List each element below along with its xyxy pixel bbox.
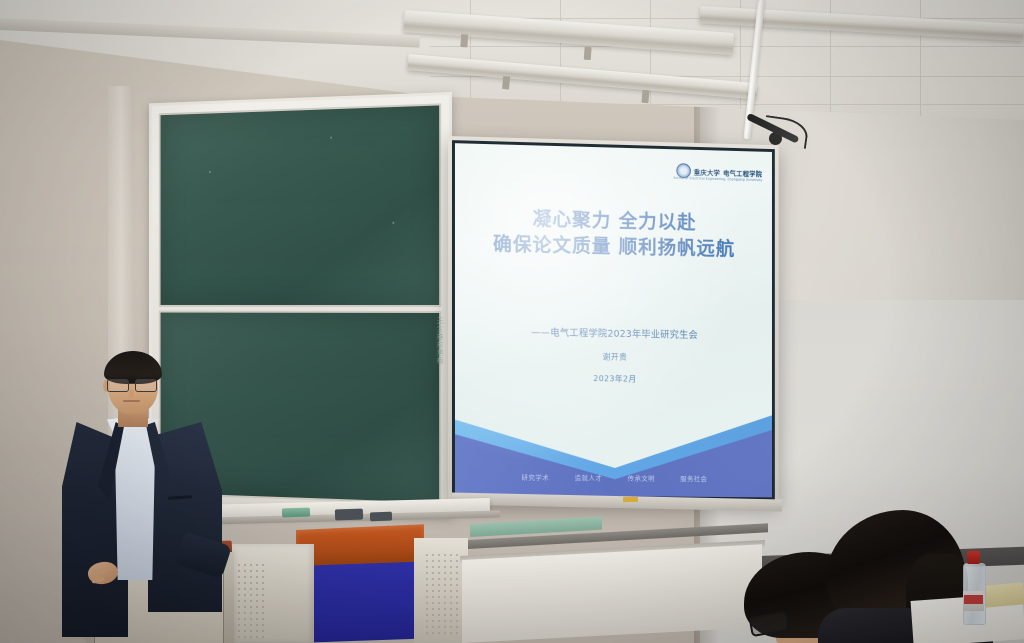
slide-subtitle-org: ——电气工程学院2023年毕业研究生会 [455,323,772,342]
footer-word-3: 传承文明 [628,473,655,483]
paper-stack[interactable] [984,582,1024,607]
marker[interactable] [370,512,392,522]
water-bottle[interactable] [963,551,984,623]
footer-word-1: 研究学术 [522,472,550,482]
logo-university-name: 重庆大学 [694,166,720,177]
front-row-desk [462,544,762,643]
classroom-photo: 无尘推拉黑板 重庆大学 电气工程学院 School of Electrical … [0,0,1024,643]
screen-brand-badge [623,497,638,502]
lens-left [107,379,129,392]
slide-logo: 重庆大学 电气工程学院 School of Electrical Enginee… [676,163,762,180]
presenter-nose [129,389,134,398]
logo-department-name: 电气工程学院 [723,167,762,178]
projection-screen[interactable]: 重庆大学 电气工程学院 School of Electrical Enginee… [448,136,779,504]
glasses-bridge [127,383,135,384]
bottle-cap [967,551,980,564]
slide-date: 2023年2月 [455,371,772,386]
presentation-slide: 重庆大学 电气工程学院 School of Electrical Enginee… [455,143,772,497]
blackboard-upper-panel [159,103,441,307]
slide-presenter-name: 谢开贵 [455,349,772,365]
board-eraser[interactable] [282,508,310,518]
slide-title-block: 凝心聚力 全力以赴 确保论文质量 顺利扬帆远航 [455,205,772,263]
console-vent-right [424,552,458,638]
bottle-label-accent [964,595,983,604]
screen-bezel: 重庆大学 电气工程学院 School of Electrical Enginee… [452,140,775,500]
slide-band-dark [455,417,772,497]
presenter-at-podium [60,356,235,643]
footer-word-2: 造就人才 [575,472,602,482]
blackboard-label: 无尘推拉黑板 [435,317,445,365]
lens-right [135,379,157,392]
slide-subtitle-block: ——电气工程学院2023年毕业研究生会 谢开贵 2023年2月 [455,323,772,386]
blue-cabinet-panel [296,562,418,643]
chalk-box[interactable] [335,509,363,521]
footer-word-4: 服务社会 [680,473,707,483]
